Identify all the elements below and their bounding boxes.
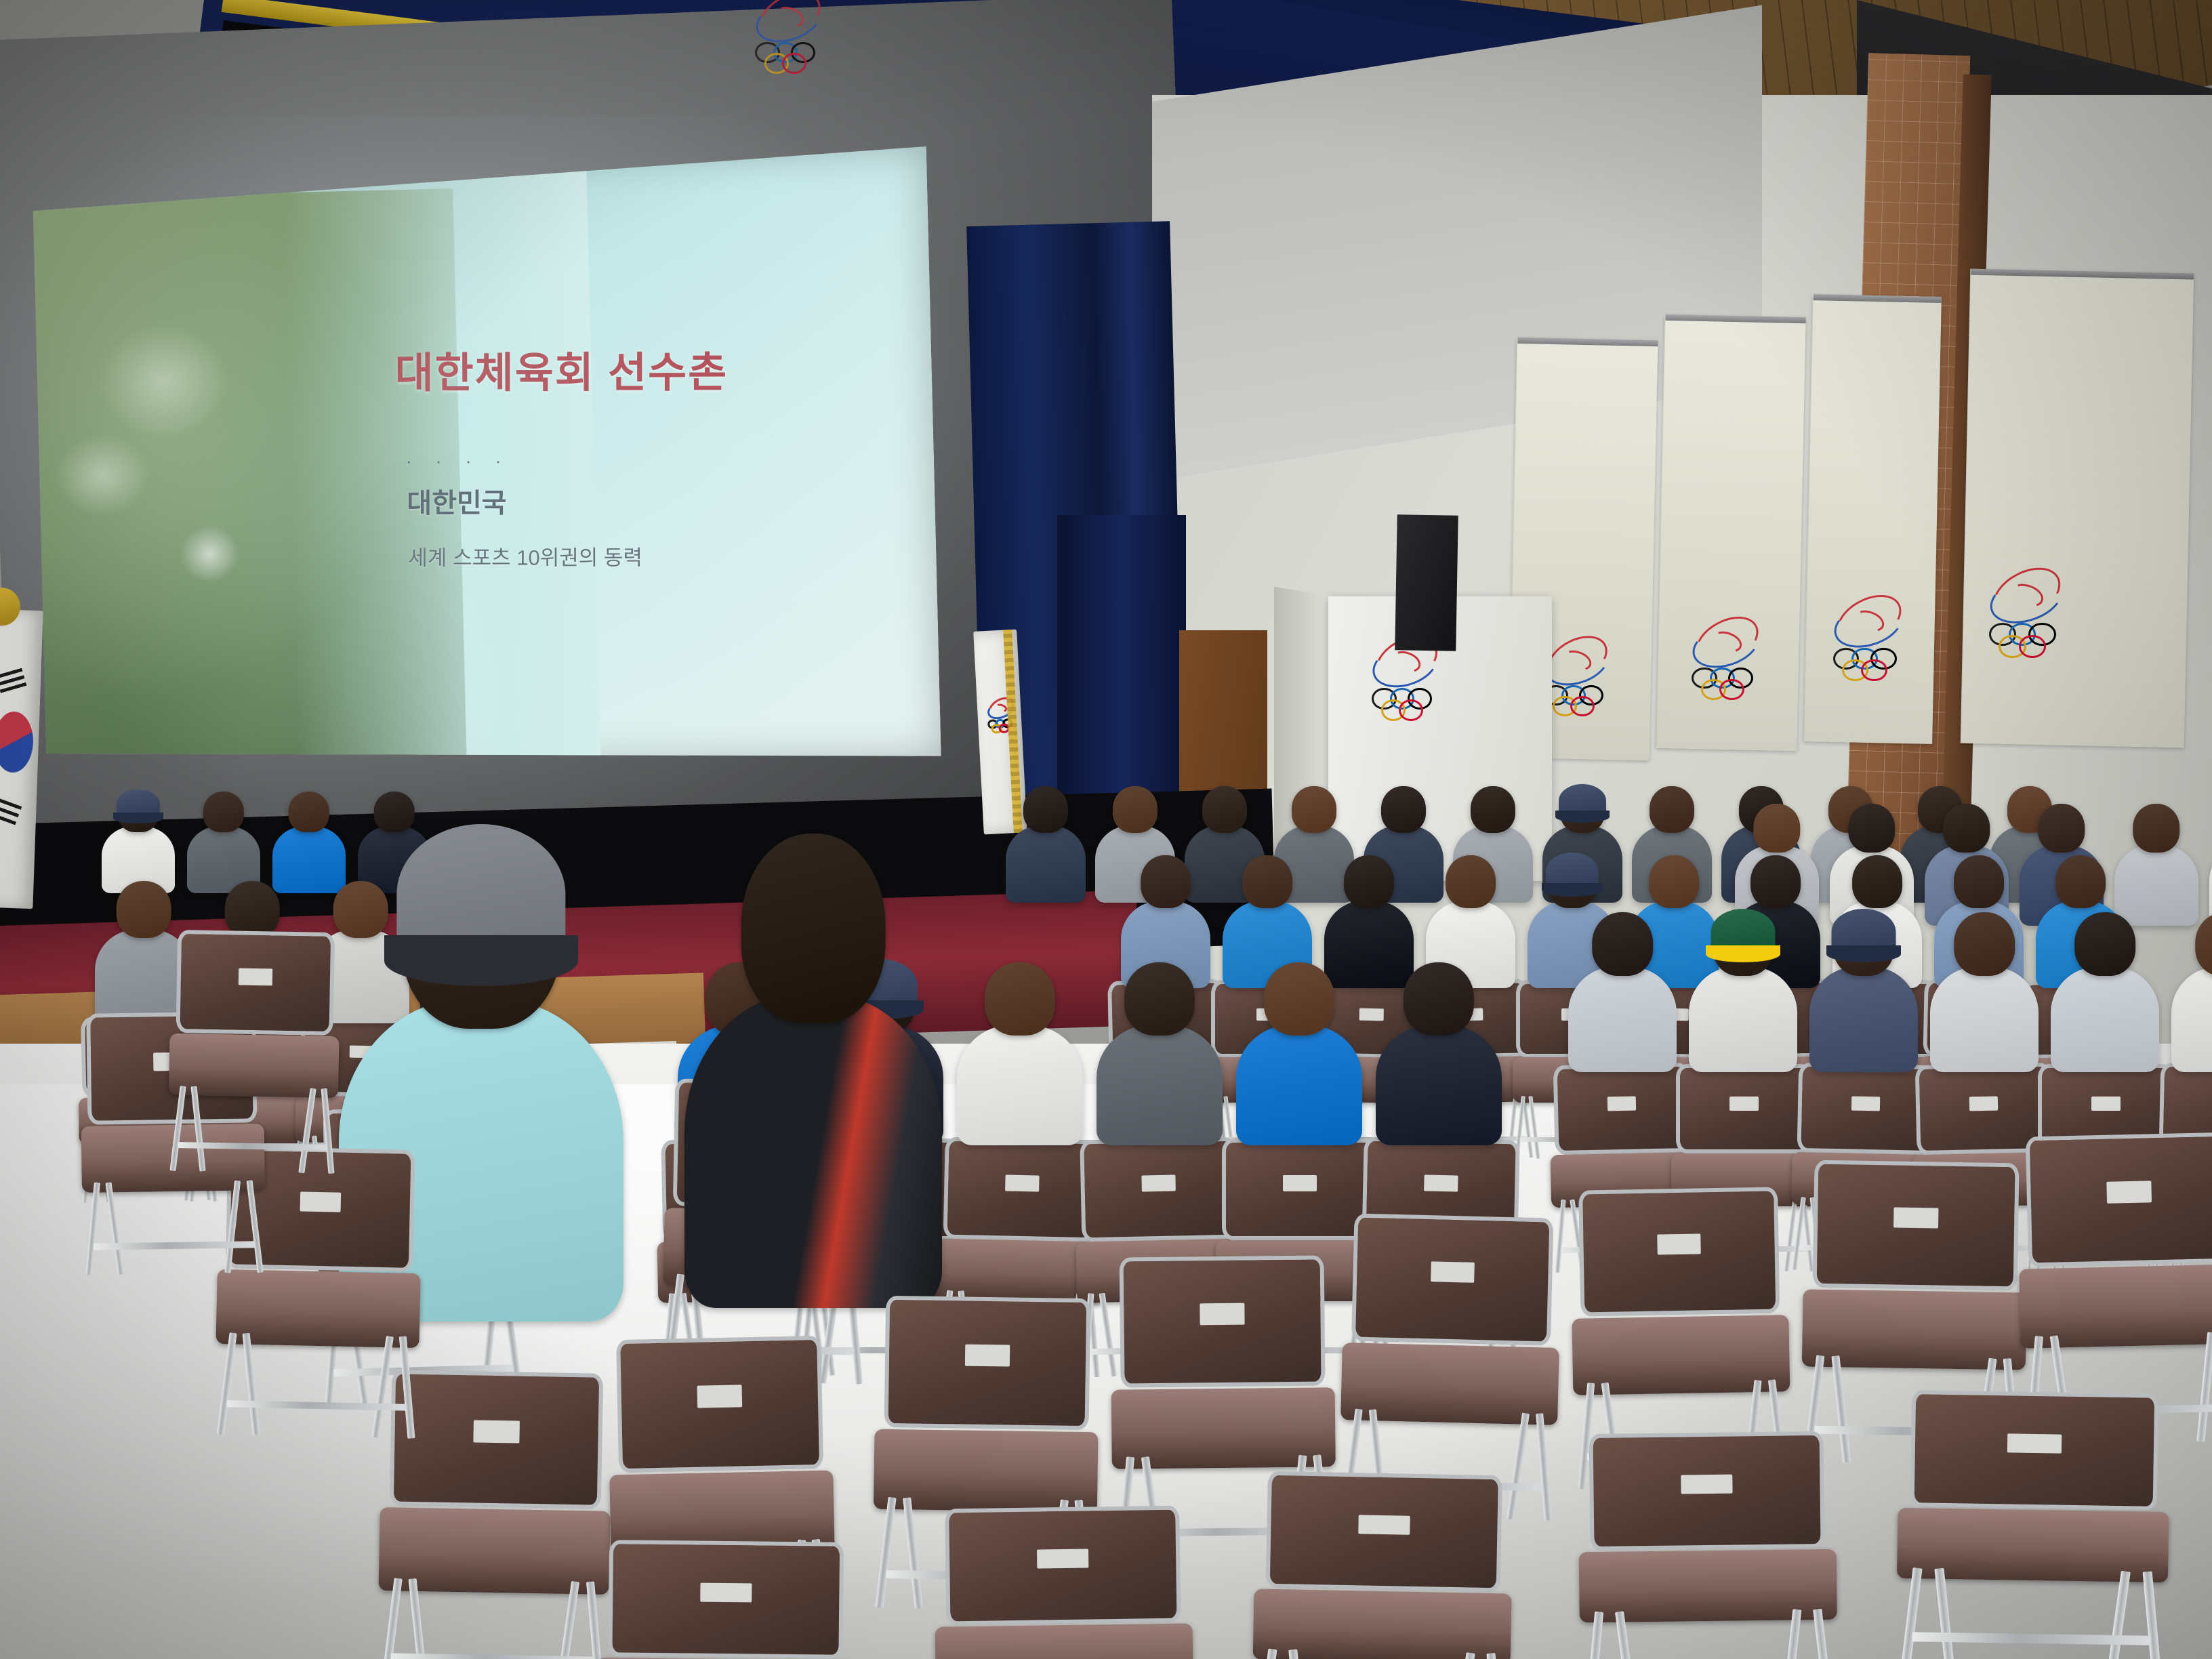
cap-brim-icon — [384, 935, 579, 986]
audience-member — [1809, 912, 1918, 1072]
koc-emblem-blind-2 — [1689, 618, 1765, 701]
folding-chair[interactable] — [1338, 1217, 1563, 1521]
head — [1242, 855, 1292, 908]
torso — [1689, 966, 1797, 1072]
audience-member — [1376, 962, 1502, 1145]
head — [2133, 804, 2179, 853]
head — [1202, 786, 1247, 833]
olympic-rings-icon — [1833, 648, 1906, 682]
head — [1446, 855, 1496, 908]
head — [1750, 855, 1801, 908]
olympic-rings-icon — [1692, 668, 1761, 701]
head — [1404, 962, 1474, 1036]
chair-label-tag — [1729, 1097, 1759, 1111]
head — [1344, 855, 1394, 908]
olympic-rings-icon — [755, 42, 823, 75]
head — [1141, 855, 1191, 908]
projection-screen: 대한체육회 선수촌 · · · · 대한민국 세계 스포츠 10위권의 동력 — [32, 146, 941, 778]
window-blind-4[interactable] — [1961, 269, 2194, 748]
chair-label-tag — [2106, 1181, 2152, 1203]
head — [741, 834, 886, 1023]
chair-legs — [1896, 1568, 2168, 1659]
head — [117, 881, 171, 938]
torso — [1568, 966, 1677, 1072]
torso — [1097, 1025, 1223, 1145]
chair-label-tag — [1969, 1097, 1999, 1111]
taeguk-icon — [1541, 637, 1614, 683]
head — [1292, 786, 1336, 833]
taeguk-icon — [1689, 618, 1765, 666]
cap-brim-icon — [1555, 811, 1610, 823]
head — [1954, 912, 2015, 976]
audience-member — [187, 792, 260, 893]
head — [985, 962, 1055, 1036]
chair-label-tag — [1006, 1175, 1040, 1192]
audience-member — [1930, 912, 2039, 1072]
audience-member — [2114, 804, 2198, 926]
head — [1592, 912, 1653, 976]
chair-label-tag — [1200, 1303, 1244, 1325]
chair-label-tag — [1681, 1475, 1732, 1494]
audience-member — [272, 792, 346, 893]
cap-brim-icon — [113, 813, 163, 823]
head — [203, 792, 244, 832]
audience-member — [102, 792, 175, 893]
folding-chair[interactable] — [933, 1509, 1195, 1659]
audience-member — [1006, 786, 1086, 903]
head — [1264, 962, 1334, 1036]
audience-member — [2209, 804, 2212, 926]
olympic-rings-icon — [1544, 685, 1611, 717]
torso — [1930, 966, 2039, 1072]
torso — [1006, 825, 1086, 903]
audience-member — [2051, 912, 2159, 1072]
chair-label-tag — [2007, 1433, 2062, 1453]
chair-label-tag — [239, 968, 272, 985]
chair-legs — [1580, 1609, 1839, 1659]
head — [2074, 912, 2135, 976]
head — [1848, 804, 1895, 853]
audience-member — [957, 962, 1083, 1145]
folding-chair[interactable] — [595, 1544, 855, 1659]
chair-label-tag — [1893, 1207, 1938, 1229]
folding-chair[interactable] — [1896, 1394, 2171, 1659]
slide-athletes-photo — [623, 196, 923, 739]
black-red-jacket-man — [684, 834, 942, 1308]
torso — [957, 1025, 1083, 1145]
cap-brim-icon — [1706, 945, 1780, 962]
torso — [684, 995, 942, 1308]
folding-chair[interactable] — [1578, 1435, 1839, 1659]
koc-emblem-blind-1 — [1541, 637, 1614, 717]
taeguk-icon — [1986, 569, 2068, 621]
torso — [1236, 1025, 1362, 1145]
chair-legs — [214, 1332, 419, 1439]
chair-legs — [167, 1086, 338, 1174]
head — [1650, 786, 1694, 833]
taeguk-icon — [1830, 596, 1908, 646]
torso — [2051, 966, 2159, 1072]
chair-label-tag — [473, 1420, 520, 1443]
head — [2055, 855, 2106, 908]
audience-member — [1097, 962, 1223, 1145]
head — [1943, 804, 1990, 853]
torso — [2171, 966, 2212, 1072]
chair-label-tag — [1358, 1515, 1410, 1534]
head — [2195, 912, 2212, 976]
head — [225, 881, 280, 938]
chair-label-tag — [1851, 1097, 1881, 1111]
cap-brim-icon — [1542, 883, 1603, 897]
chair-label-tag — [700, 1583, 752, 1603]
head — [289, 792, 329, 832]
head — [374, 792, 415, 832]
koc-emblem-blind-4 — [1986, 569, 2068, 659]
audience-member — [1568, 912, 1677, 1072]
loudspeaker — [1395, 514, 1458, 651]
chair-legs — [377, 1578, 609, 1659]
torso — [1809, 966, 1918, 1072]
chair-legs — [82, 1180, 266, 1275]
audience-member — [1236, 962, 1362, 1145]
slide-title: 대한체육회 선수촌 — [395, 338, 729, 400]
olympic-rings-icon — [1372, 688, 1440, 722]
chair-label-tag — [300, 1191, 342, 1212]
chair-label-tag — [2091, 1097, 2121, 1111]
head — [1124, 962, 1195, 1036]
taeguk-icon — [752, 0, 827, 41]
head — [1381, 786, 1426, 833]
chair-label-tag — [965, 1344, 1010, 1366]
cap-brim-icon — [1826, 945, 1900, 962]
chair-label-tag — [1425, 1175, 1458, 1192]
folding-chair[interactable] — [1251, 1475, 1514, 1659]
head — [2038, 804, 2085, 853]
olympic-rings-icon — [1989, 623, 2065, 659]
chair-seat — [935, 1623, 1193, 1659]
chair-label-tag — [1431, 1261, 1475, 1283]
chair-label-tag — [697, 1385, 743, 1408]
head — [1954, 855, 2004, 908]
head — [1471, 786, 1515, 833]
audience-member — [2171, 912, 2212, 1072]
koc-emblem-proscenium — [752, 0, 827, 75]
folding-chair[interactable] — [167, 934, 341, 1174]
presentation-slide: 대한체육회 선수촌 · · · · 대한민국 세계 스포츠 10위권의 동력 — [32, 146, 941, 778]
slide-dot-accent: · · · · — [406, 451, 510, 472]
slide-subtitle-primary: 대한민국 — [407, 481, 507, 520]
torso — [1376, 1025, 1502, 1145]
chair-label-tag — [1657, 1233, 1701, 1255]
chair-label-tag — [1283, 1175, 1317, 1191]
chair-label-tag — [1142, 1175, 1176, 1192]
head — [1023, 786, 1068, 833]
head — [1852, 855, 1902, 908]
slide-subtitle-secondary: 세계 스포츠 10위권의 동력 — [409, 540, 643, 571]
koc-emblem-blind-3 — [1830, 596, 1908, 682]
chair-label-tag — [1037, 1549, 1088, 1568]
chair-label-tag — [1607, 1097, 1637, 1111]
head — [1753, 804, 1800, 853]
head — [1113, 786, 1158, 833]
green-yellow-cap-person — [1689, 912, 1797, 1072]
auditorium-scene: 대한체육회 선수촌 · · · · 대한민국 세계 스포츠 10위권의 동력 — [0, 0, 2212, 1659]
head — [1649, 855, 1699, 908]
